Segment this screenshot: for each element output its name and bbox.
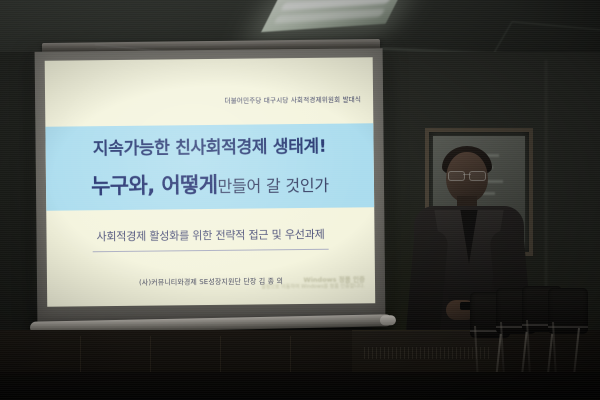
slide-divider-rule bbox=[93, 249, 329, 252]
lens-right bbox=[469, 171, 486, 181]
slide-event-header: 더불어민주당 대구시당 사회적경제위원회 발대식 bbox=[224, 93, 361, 104]
slide-title-line-2: 누구와, 어떻게만들어 갈 것인가 bbox=[46, 167, 374, 200]
screen-pull-knob bbox=[380, 315, 396, 325]
projected-slide: 더불어민주당 대구시당 사회적경제위원회 발대식 지속가능한 친사회적경제 생태… bbox=[45, 57, 376, 306]
floor bbox=[0, 372, 600, 400]
windows-activation-watermark: Windows 정품 인증 설정으로 이동하여 Windows를 정품 인증합니… bbox=[261, 275, 365, 290]
eyeglasses-icon bbox=[448, 171, 486, 179]
slide-title-remainder: 만들어 갈 것인가 bbox=[217, 176, 329, 196]
slide-subtitle: 사회적경제 활성화를 위한 전략적 접근 및 우선과제 bbox=[46, 225, 374, 244]
projection-screen: 더불어민주당 대구시당 사회적경제위원회 발대식 지속가능한 친사회적경제 생태… bbox=[35, 48, 386, 324]
slide-title-line-1: 지속가능한 친사회적경제 생태계! bbox=[45, 131, 373, 159]
ceiling-light-panel bbox=[261, 0, 403, 32]
lens-left bbox=[448, 171, 465, 181]
watermark-line-2: 설정으로 이동하여 Windows를 정품 인증합니다. bbox=[261, 283, 365, 290]
photo-scene: 더불어민주당 대구시당 사회적경제위원회 발대식 지속가능한 친사회적경제 생태… bbox=[0, 0, 600, 400]
light-tube-secondary bbox=[273, 8, 385, 23]
slide-title-emphasis: 누구와, 어떻게 bbox=[91, 173, 218, 198]
